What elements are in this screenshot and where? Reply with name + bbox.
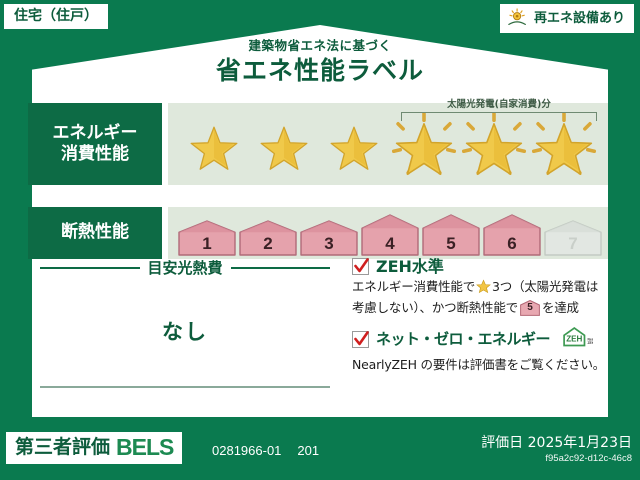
label-title-block: 建築物省エネ法に基づく 省エネ性能ラベル (0, 38, 640, 86)
insulation-badge-value: 6 (507, 235, 516, 256)
insulation-badge-value: 1 (202, 235, 211, 256)
energy-row-label-line2: 消費性能 (61, 144, 129, 165)
insulation-performance-row: 断熱性能 1 2 (28, 207, 608, 259)
energy-stars-panel (168, 103, 608, 185)
bels-certificate-number: 0281966-01201 (212, 444, 319, 457)
insulation-badge-value: 3 (324, 235, 333, 256)
net-zero-header: ネット・ゼロ・エネルギー ZEH Nearly ZEH (352, 325, 608, 353)
insulation-badge: 3 (300, 220, 358, 256)
label-footer: 第三者評価 BELS 0281966-01201 評価日 2025年1月23日 … (0, 424, 640, 480)
insulation-badge: 7 (544, 220, 602, 256)
utility-cost-value: なし (40, 316, 330, 346)
sun-icon (507, 8, 529, 28)
utility-cost-rule-right (231, 267, 331, 269)
evaluation-date-block: 評価日 2025年1月23日 f95a2c92-d12c-46c8 (481, 436, 632, 465)
utility-cost-header: 目安光熱費 (40, 258, 330, 278)
zeh-level-checkbox[interactable] (352, 258, 369, 275)
evaluation-date: 評価日 2025年1月23日 (481, 436, 632, 451)
star-icon (320, 106, 388, 182)
insulation-badges-panel: 1 2 3 4 (168, 207, 608, 259)
utility-cost-bottom-rule (40, 386, 330, 388)
insulation-badge-value: 2 (263, 235, 272, 256)
evaluation-date-value: 2025年1月23日 (528, 435, 632, 451)
certification-zeh-level: ZEH水準 エネルギー消費性能で3つ（太陽光発電は考慮しない）、かつ断熱性能で5… (352, 258, 608, 317)
energy-row-label-line1: エネルギー (53, 123, 138, 144)
dwelling-type-tag: 住宅（住戸） (4, 4, 108, 29)
utility-cost-section: 目安光熱費 なし (40, 258, 330, 398)
insulation-badge: 6 (483, 214, 541, 256)
insulation-rating: 1 2 3 4 (168, 207, 608, 259)
insulation-row-label-text: 断熱性能 (61, 222, 129, 243)
insulation-badge: 5 (422, 214, 480, 256)
certification-section: ZEH水準 エネルギー消費性能で3つ（太陽光発電は考慮しない）、かつ断熱性能で5… (352, 258, 608, 382)
insulation-badge-value: 7 (568, 235, 577, 256)
net-zero-checkbox[interactable] (352, 331, 369, 348)
insulation-level-inline-value: 5 (520, 301, 540, 314)
utility-cost-rule-left (40, 267, 140, 269)
check-icon (353, 330, 370, 349)
document-hash: f95a2c92-d12c-46c8 (481, 454, 632, 464)
unit-no-value: 201 (297, 443, 319, 458)
title-subtitle: 建築物省エネ法に基づく (0, 38, 640, 53)
title-main: 省エネ性能ラベル (0, 55, 640, 86)
bels-en-label: BELS (116, 436, 173, 459)
insulation-badge: 4 (361, 214, 419, 256)
zeh-house-logo: ZEH Nearly ZEH (557, 325, 593, 353)
zeh-level-description: エネルギー消費性能で3つ（太陽光発電は考慮しない）、かつ断熱性能で5を達成 (352, 278, 608, 317)
renewable-equipment-badge: 再エネ設備あり (500, 4, 634, 33)
zeh-desc-part1: エネルギー消費性能で (352, 279, 475, 294)
insulation-level-inline-badge: 5 (520, 300, 540, 316)
bels-logo-box: 第三者評価 BELS (6, 432, 182, 464)
energy-performance-row: エネルギー 消費性能 (28, 103, 608, 185)
star-icon (250, 106, 318, 182)
utility-cost-title: 目安光熱費 (140, 261, 231, 276)
svg-text:ZEH: ZEH (566, 335, 582, 344)
star-icon (460, 106, 528, 182)
zeh-desc-part3: を達成 (542, 300, 579, 315)
star-icon (476, 279, 491, 299)
insulation-badge: 1 (178, 220, 236, 256)
renewable-badge-label: 再エネ設備あり (534, 12, 625, 25)
certification-net-zero-energy: ネット・ゼロ・エネルギー ZEH Nearly ZEH NearlyZEH の要… (352, 325, 608, 374)
net-zero-title: ネット・ゼロ・エネルギー (376, 332, 550, 347)
star-icon (180, 106, 248, 182)
evaluation-date-label: 評価日 (481, 435, 523, 451)
check-icon (353, 257, 370, 276)
star-rating (168, 103, 608, 185)
insulation-badge-value: 4 (385, 235, 394, 256)
zeh-level-header: ZEH水準 (352, 258, 608, 275)
star-icon (530, 106, 598, 182)
insulation-row-label: 断熱性能 (28, 207, 162, 259)
energy-row-label: エネルギー 消費性能 (28, 103, 162, 185)
insulation-badge-value: 5 (446, 235, 455, 256)
star-icon (390, 106, 458, 182)
energy-performance-label: ASAIX 住宅（住戸） 再エネ設備あり 建築物省エネ法に基づく 省エネ性能ラベ… (0, 0, 640, 480)
zeh-level-title: ZEH水準 (376, 259, 444, 275)
net-zero-description: NearlyZEH の要件は評価書をご覧ください。 (352, 356, 608, 374)
bels-jp-label: 第三者評価 (15, 438, 110, 457)
insulation-badge: 2 (239, 220, 297, 256)
svg-text:ZEH: ZEH (587, 341, 593, 345)
certificate-no-value: 0281966-01 (212, 443, 281, 458)
